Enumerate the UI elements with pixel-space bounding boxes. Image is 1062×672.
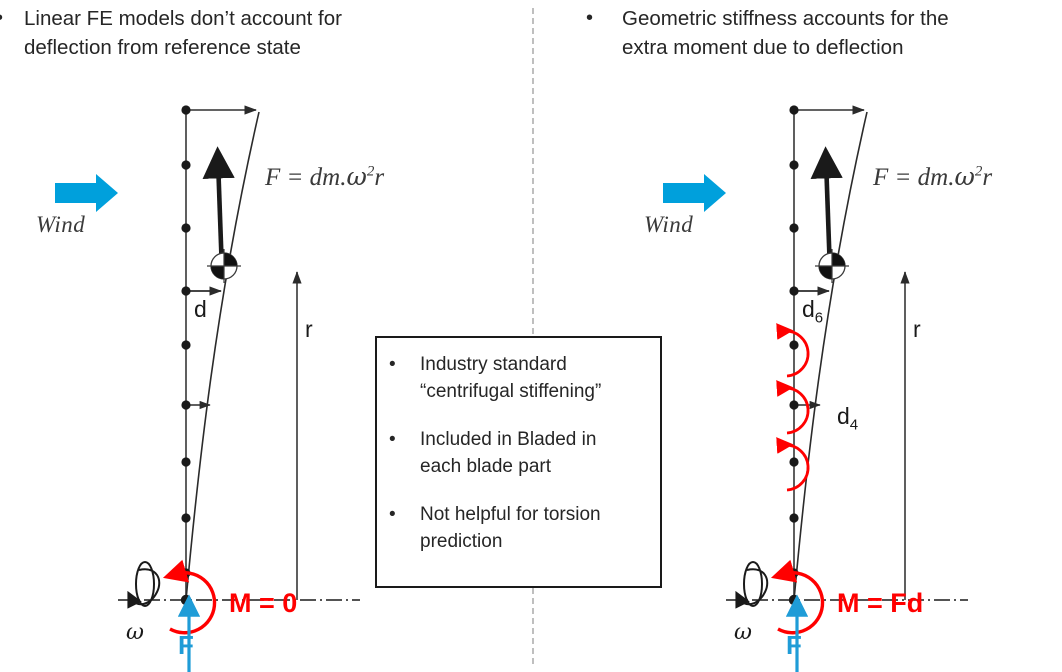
d6-base: d [802,296,815,322]
callout-item-text: Industry standard “centrifugal stiffenin… [420,351,601,405]
centre-callout-box: • Industry standard “centrifugal stiffen… [375,336,662,588]
root-moment-arc [170,573,215,633]
blade-root-node [789,595,799,605]
force-label-F: F [786,630,802,661]
omega-label: ω [126,620,144,645]
radius-label-r: r [913,316,921,343]
blade-node [789,400,798,409]
node-moment-arc [784,388,808,433]
blade-node [181,340,190,349]
moment-label: M = 0 [229,588,297,619]
callout-line1: Not helpful for torsion [420,504,601,525]
bullet-marker-icon: • [389,351,401,378]
blade-root-node [181,595,191,605]
formula-omega: ω [346,162,366,191]
force-formula: F = dm.ω2r [873,162,992,192]
callout-line2: prediction [420,531,502,552]
callout-item: • Industry standard “centrifugal stiffen… [389,351,650,405]
deflection-label-d6: d6 [802,296,823,327]
deflection-label-d: d [194,296,207,323]
formula-suffix: r [374,164,384,191]
node-moment-arc [784,445,808,490]
blade-node [181,400,190,409]
force-formula: F = dm.ω2r [265,162,384,192]
formula-prefix: F = dm. [873,164,954,191]
blade-node [789,286,798,295]
d6-subscript: 6 [815,310,823,327]
blade-node [789,105,798,114]
formula-prefix: F = dm. [265,164,346,191]
slide-canvas: • Linear FE models don’t account for def… [0,0,1062,672]
callout-line2: “centrifugal stiffening” [420,381,601,402]
blade-node [789,457,798,466]
radius-label-r: r [305,316,313,343]
callout-item: • Included in Bladed in each blade part [389,426,650,480]
center-of-gravity-icon [815,249,849,283]
blade-node [789,223,798,232]
deformed-blade-curve [186,112,259,600]
blade-node [789,160,798,169]
d4-subscript: 4 [850,417,858,434]
wind-label: Wind [644,212,693,238]
callout-item: • Not helpful for torsion prediction [389,501,650,555]
d4-base: d [837,403,850,429]
formula-omega: ω [954,162,974,191]
bullet-marker-icon: • [389,426,401,453]
blade-node [181,105,190,114]
callout-line1: Industry standard [420,354,567,375]
blade-node [181,513,190,522]
formula-suffix: r [982,164,992,191]
blade-node [181,457,190,466]
wind-arrow-icon [663,174,726,212]
blade-node [789,513,798,522]
moment-label: M = Fd [837,588,923,619]
callout-item-text: Included in Bladed in each blade part [420,426,596,480]
center-of-gravity-icon [207,249,241,283]
blade-node [789,340,798,349]
callout-line1: Included in Bladed in [420,429,596,450]
root-moment-arc [778,573,823,633]
blade-node [181,160,190,169]
blade-node [181,286,190,295]
bullet-marker-icon: • [389,501,401,528]
geometric-stiffness-moment-arcs [784,331,808,490]
omega-label: ω [734,620,752,645]
deflection-label-d4: d4 [837,403,858,434]
callout-line2: each blade part [420,456,551,477]
node-moment-arc [784,331,808,376]
wind-arrow-icon [55,174,118,212]
callout-item-text: Not helpful for torsion prediction [420,501,601,555]
deformed-blade-curve [794,112,867,600]
force-label-F: F [178,630,194,661]
blade-node [181,223,190,232]
wind-label: Wind [36,212,85,238]
